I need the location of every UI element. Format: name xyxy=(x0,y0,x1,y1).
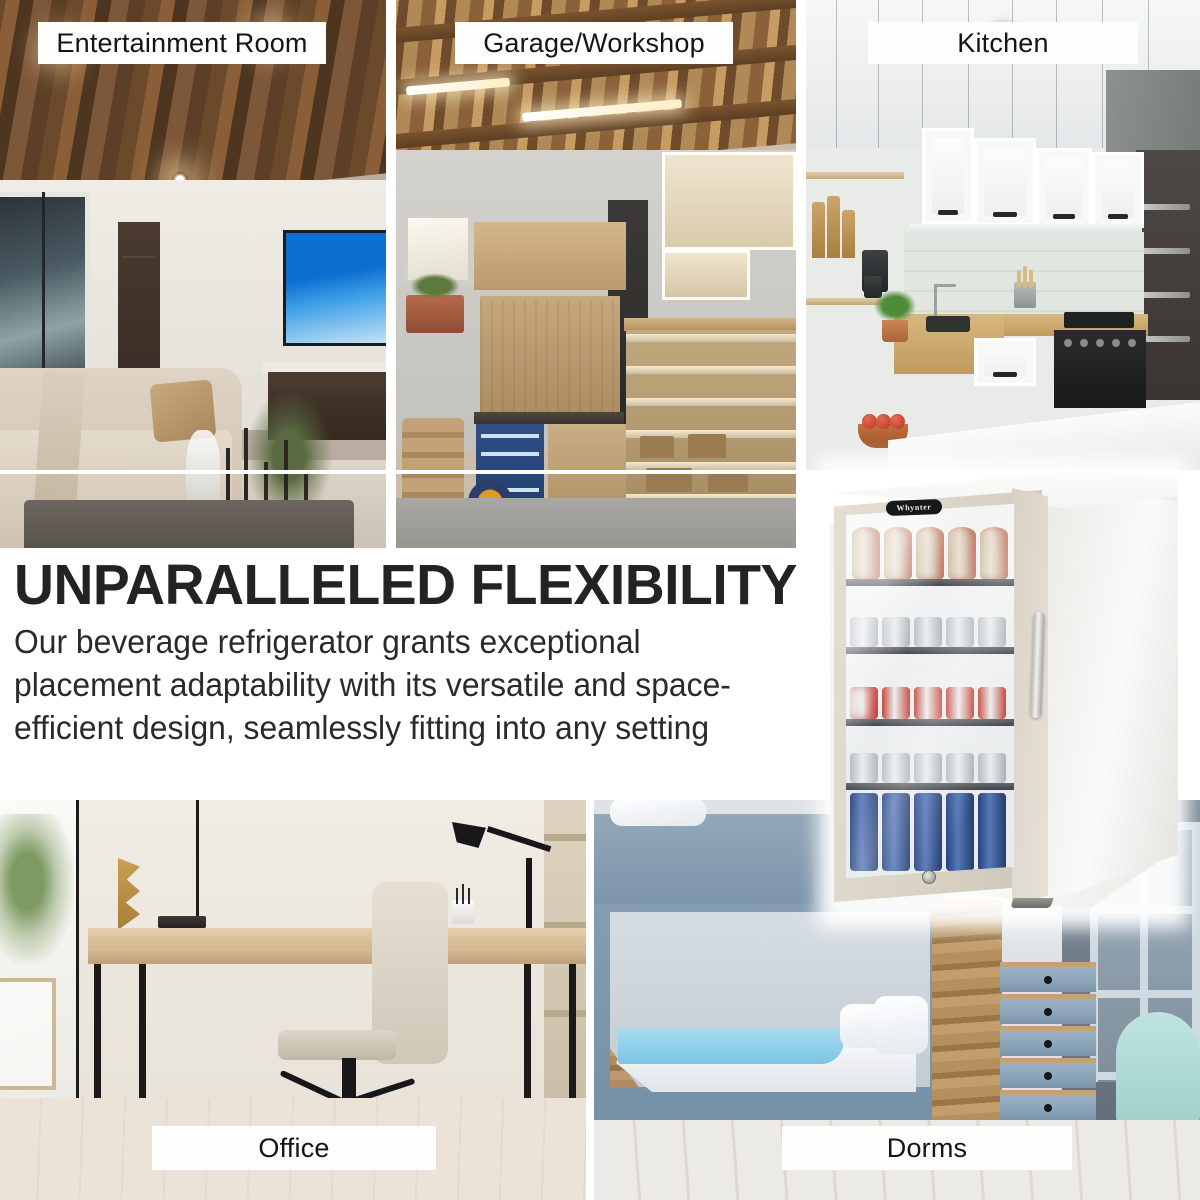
room-label-text: Office xyxy=(258,1133,329,1164)
fridge-side-panel xyxy=(1038,476,1178,906)
beverage-can xyxy=(852,527,880,579)
beverage-can xyxy=(916,527,944,579)
room-label-kitchen: Kitchen xyxy=(868,22,1138,64)
side-console xyxy=(0,978,56,1090)
indoor-plant xyxy=(0,814,74,964)
panel-kitchen xyxy=(806,0,1200,470)
shelf-row xyxy=(846,790,1014,878)
room-label-text: Garage/Workshop xyxy=(483,28,705,59)
beverage-can xyxy=(850,617,878,647)
blanket xyxy=(618,1028,844,1064)
beverage-can xyxy=(884,527,912,579)
utensil-crock xyxy=(1014,282,1036,308)
wood-column xyxy=(932,900,1002,1130)
stair-drawer xyxy=(1000,994,1096,1024)
garage-floor xyxy=(396,498,796,548)
beverage-can xyxy=(882,617,910,647)
potted-herb xyxy=(874,290,916,342)
beverage-can xyxy=(978,687,1006,719)
window xyxy=(0,192,90,387)
beverage-can xyxy=(914,793,942,871)
coffee-table xyxy=(24,500,354,548)
workbench-top xyxy=(474,412,624,424)
shelf-row xyxy=(846,594,1014,654)
shelf-row xyxy=(846,664,1014,726)
beverage-can xyxy=(850,753,878,783)
interior-door xyxy=(118,222,160,382)
fridge-hinge-foot xyxy=(1010,898,1053,908)
beverage-can xyxy=(946,617,974,647)
sink xyxy=(926,316,970,332)
desk-books xyxy=(158,916,206,928)
room-label-garage-workshop: Garage/Workshop xyxy=(455,22,733,64)
wall-trim xyxy=(76,800,79,1100)
desk-leg-left xyxy=(94,964,146,1116)
room-label-dorms: Dorms xyxy=(782,1126,1072,1170)
fridge-glass-door xyxy=(846,504,1014,878)
stair-drawer xyxy=(1000,1026,1096,1056)
panel-gutter xyxy=(796,0,806,548)
panel-gutter xyxy=(386,0,396,548)
upper-bunk-pillow xyxy=(610,800,706,826)
dorm-chair xyxy=(1116,1012,1200,1130)
bunk-guard-rail xyxy=(592,814,814,904)
bunk-stairs xyxy=(1000,962,1096,1132)
office-chair-seat xyxy=(278,1030,396,1060)
room-label-text: Kitchen xyxy=(957,28,1048,59)
body-copy: Our beverage refrigerator grants excepti… xyxy=(14,620,757,749)
stair-drawer xyxy=(1000,962,1096,992)
beverage-can xyxy=(946,753,974,783)
page-title: UNPARALLELED FLEXIBILITY xyxy=(14,556,780,614)
wall-cabinet xyxy=(662,250,750,300)
stair-drawer xyxy=(1000,1058,1096,1088)
gas-cooktop xyxy=(1064,312,1134,328)
room-label-text: Entertainment Room xyxy=(56,28,307,59)
window-mullion xyxy=(42,192,45,387)
room-label-text: Dorms xyxy=(887,1133,968,1164)
panel-gutter xyxy=(0,470,810,474)
beverage-can xyxy=(850,793,878,871)
product-beverage-refrigerator: Whynter xyxy=(812,452,1200,934)
beverage-can xyxy=(980,527,1008,579)
marketing-collage: Entertainment Room xyxy=(0,0,1200,1200)
planter-box xyxy=(406,295,464,333)
beverage-can xyxy=(978,793,1006,871)
fridge-door-lock-icon[interactable] xyxy=(922,870,936,884)
pencil-cup xyxy=(452,900,474,924)
upper-storage-cabinet xyxy=(474,222,626,290)
upper-cabinet xyxy=(922,128,974,224)
beverage-can xyxy=(882,753,910,783)
desk-leg-right xyxy=(524,964,576,1116)
panel-entertainment-room xyxy=(0,0,386,548)
shelf-row xyxy=(846,732,1014,790)
beverage-can xyxy=(946,687,974,719)
copy-block: UNPARALLELED FLEXIBILITY Our beverage re… xyxy=(0,548,810,800)
beverage-can xyxy=(914,753,942,783)
pegboard xyxy=(480,300,620,412)
cutting-boards xyxy=(812,196,852,258)
shelf-row xyxy=(846,520,1014,586)
wall-mounted-tv xyxy=(283,230,386,346)
oven xyxy=(1054,330,1146,408)
beverage-can xyxy=(978,753,1006,783)
upper-cabinet xyxy=(974,138,1036,226)
room-label-office: Office xyxy=(152,1126,436,1170)
faucet xyxy=(934,284,937,316)
beverage-can xyxy=(914,617,942,647)
wall-cabinet xyxy=(662,152,796,250)
desk-apron xyxy=(88,948,586,964)
desk-lamp-post xyxy=(526,858,532,936)
panel-gutter xyxy=(586,800,594,1200)
base-cabinet xyxy=(974,338,1036,386)
brand-badge: Whynter xyxy=(886,499,942,516)
stair-drawer xyxy=(1000,1090,1096,1120)
beverage-can xyxy=(914,687,942,719)
beverage-can xyxy=(882,687,910,719)
beverage-can xyxy=(882,793,910,871)
room-label-entertainment-room: Entertainment Room xyxy=(38,22,326,64)
shelving-unit xyxy=(626,330,796,516)
upper-cabinet xyxy=(1036,148,1092,228)
beverage-can xyxy=(946,793,974,871)
open-shelf xyxy=(806,172,904,179)
pillow xyxy=(874,996,928,1054)
beverage-can xyxy=(948,527,976,579)
beverage-can xyxy=(850,687,878,719)
upper-cabinet xyxy=(1092,152,1144,228)
beverage-can xyxy=(978,617,1006,647)
panel-garage-workshop xyxy=(396,0,796,548)
